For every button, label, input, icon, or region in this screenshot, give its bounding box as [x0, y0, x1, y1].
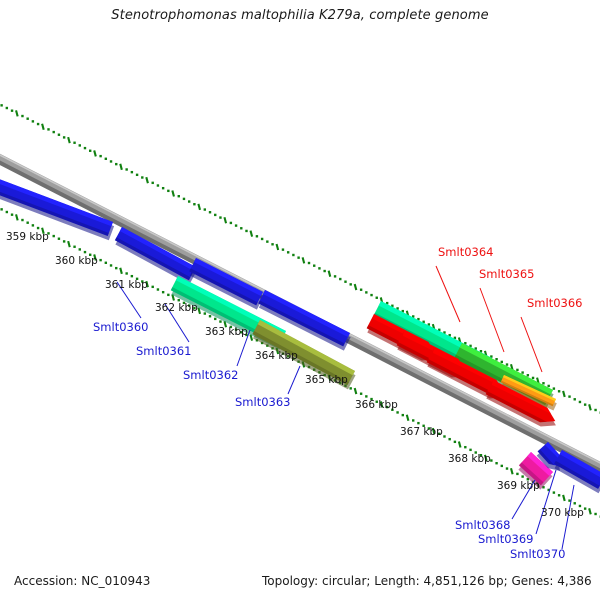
gene-label-smlt0369[interactable]: Smlt0369 — [478, 532, 533, 546]
genome-map-canvas[interactable]: 359 kbp360 kbp361 kbp362 kbp363 kbp364 k… — [0, 0, 600, 600]
scale-tick-label-9: 368 kbp — [448, 453, 491, 465]
gene-label-smlt0362[interactable]: Smlt0362 — [183, 368, 238, 382]
footer-divider — [0, 564, 600, 565]
scale-tick-label-6: 365 kbp — [305, 374, 348, 386]
scale-tick-label-4: 363 kbp — [205, 326, 248, 338]
genome-stats-text: Topology: circular; Length: 4,851,126 bp… — [262, 574, 592, 588]
scale-tick-label-10: 369 kbp — [497, 480, 540, 492]
scale-tick-label-0: 359 kbp — [6, 231, 49, 243]
gene-label-smlt0365[interactable]: Smlt0365 — [479, 267, 534, 281]
gene-label-smlt0364[interactable]: Smlt0364 — [438, 245, 493, 259]
gene-features[interactable] — [0, 168, 600, 493]
gene-label-smlt0366[interactable]: Smlt0366 — [527, 296, 582, 310]
gene-label-smlt0361[interactable]: Smlt0361 — [136, 344, 191, 358]
gene-label-smlt0370[interactable]: Smlt0370 — [510, 547, 565, 561]
scale-tick-label-8: 367 kbp — [400, 426, 443, 438]
scale-tick-label-2: 361 kbp — [105, 279, 148, 291]
gene-label-smlt0363[interactable]: Smlt0363 — [235, 395, 290, 409]
scale-tick-label-3: 362 kbp — [155, 302, 198, 314]
gene-label-smlt0360[interactable]: Smlt0360 — [93, 320, 148, 334]
accession-text: Accession: NC_010943 — [14, 574, 150, 588]
scale-tick-label-5: 364 kbp — [255, 350, 298, 362]
scale-tick-label-11: 370 kbp — [541, 507, 584, 519]
scale-tick-label-7: 366 kbp — [355, 399, 398, 411]
gene-label-smlt0368[interactable]: Smlt0368 — [455, 518, 510, 532]
scale-tick-label-1: 360 kbp — [55, 255, 98, 267]
